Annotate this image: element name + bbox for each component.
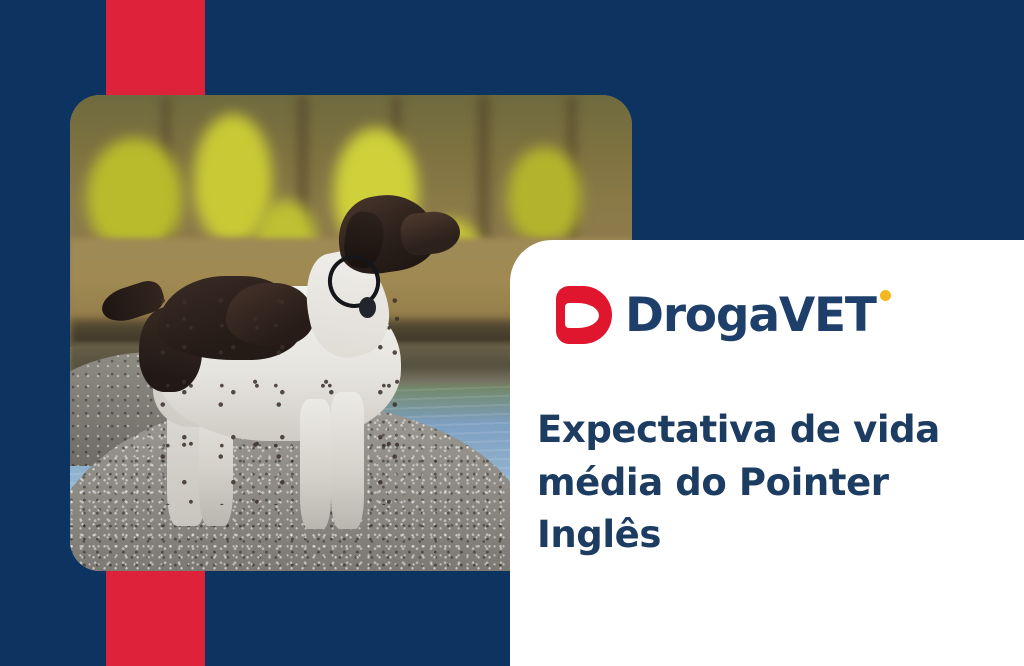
drogavet-drop-logo-icon [556, 286, 612, 344]
brand-logo[interactable]: DrogaVET [556, 286, 876, 344]
page-title: Expectativa de vida média do Pointer Ing… [537, 404, 1007, 562]
brand-wordmark: DrogaVET [625, 292, 876, 339]
brand-accent-dot-icon [880, 290, 891, 301]
dog-front-leg [300, 399, 331, 529]
photo-shrub [508, 147, 581, 242]
dog-coat-patch [226, 283, 313, 346]
dog-front-leg [331, 392, 364, 529]
photo-tree-trunk [475, 95, 493, 257]
dog-muzzle [399, 209, 462, 257]
pointer-dog [115, 181, 463, 533]
